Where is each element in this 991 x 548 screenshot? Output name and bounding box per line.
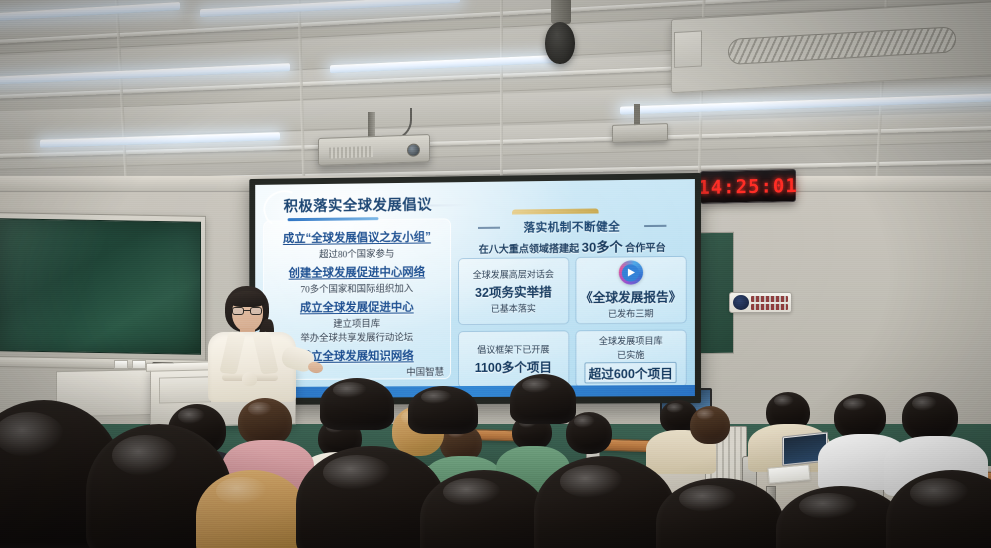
paper-sheet <box>767 464 810 484</box>
student-head <box>902 392 958 442</box>
foreground-student-head <box>510 374 576 424</box>
foreground-student-head <box>320 378 394 430</box>
foreground-student-head <box>408 386 478 434</box>
student-head <box>238 398 292 446</box>
classroom-photo: 14:25:01 积极落实全球发展倡议 成立“全球发展倡议之友小组” 超过80个… <box>0 0 991 548</box>
foreground-student-head <box>656 478 784 548</box>
student-head <box>690 406 730 444</box>
audience-area <box>0 0 991 548</box>
